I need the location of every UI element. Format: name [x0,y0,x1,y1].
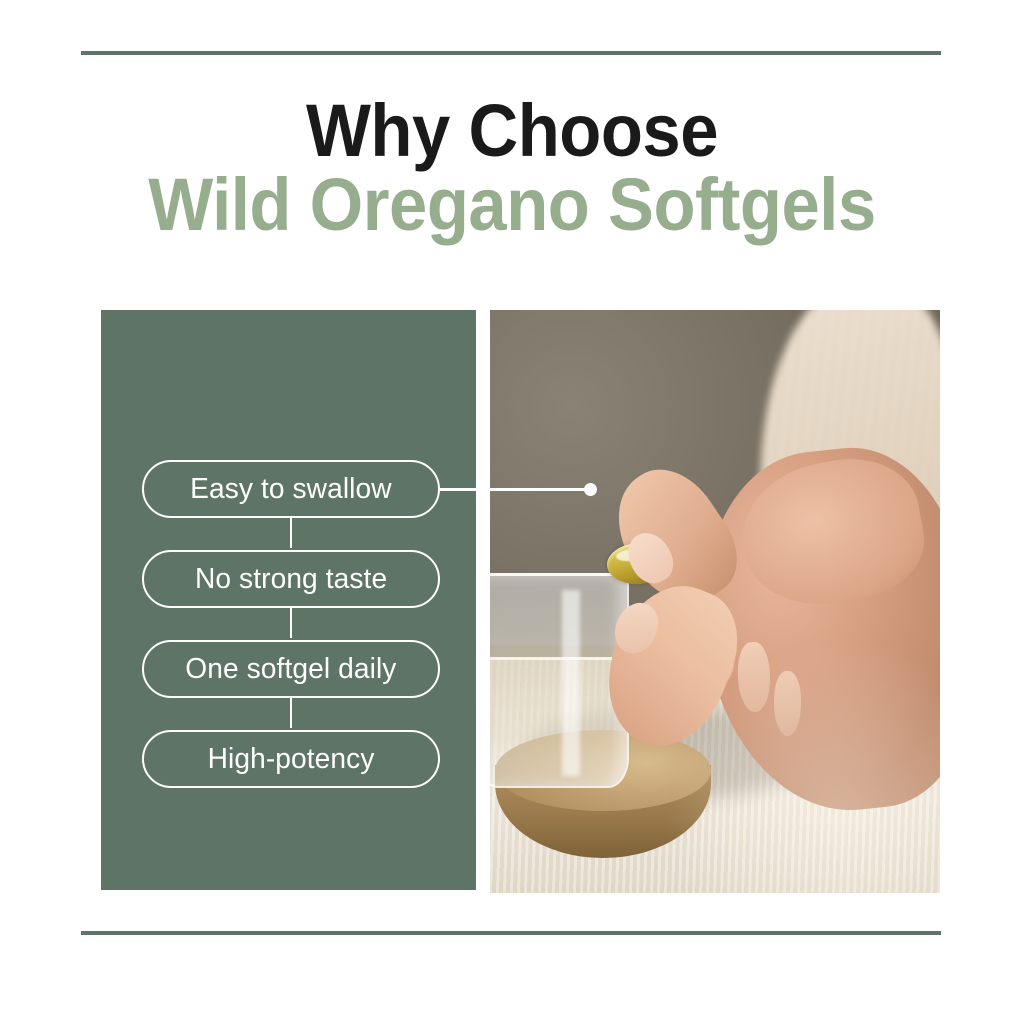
promo-poster: Why Choose Wild Oregano Softgels Easy to… [0,0,1024,1024]
feature-pill-easy-to-swallow[interactable]: Easy to swallow [142,460,440,518]
photo-water-line [490,657,625,660]
page-title: Why Choose Wild Oregano Softgels [0,96,1024,241]
bottom-divider-rule [81,931,941,935]
feature-pill-no-strong-taste[interactable]: No strong taste [142,550,440,608]
feature-pill-label: High-potency [208,743,375,776]
photo-scene [490,310,940,893]
feature-pill-label: One softgel daily [185,653,396,686]
product-photo [490,310,940,893]
feature-list: Easy to swallow No strong taste One soft… [142,460,440,788]
pill-connector-line [290,696,292,728]
heading-line-primary: Why Choose [36,96,988,166]
feature-pill-one-softgel-daily[interactable]: One softgel daily [142,640,440,698]
photo-glass-highlight [562,590,580,777]
feature-pill-high-potency[interactable]: High-potency [142,730,440,788]
top-divider-rule [81,51,941,55]
feature-pill-label: Easy to swallow [190,473,392,506]
pill-connector-line [290,516,292,548]
photo-fingernail [774,671,801,735]
feature-pill-label: No strong taste [195,563,387,596]
callout-leader-dot [584,483,597,496]
heading-line-secondary: Wild Oregano Softgels [36,170,988,240]
pill-connector-line [290,606,292,638]
callout-leader-line [440,488,592,491]
